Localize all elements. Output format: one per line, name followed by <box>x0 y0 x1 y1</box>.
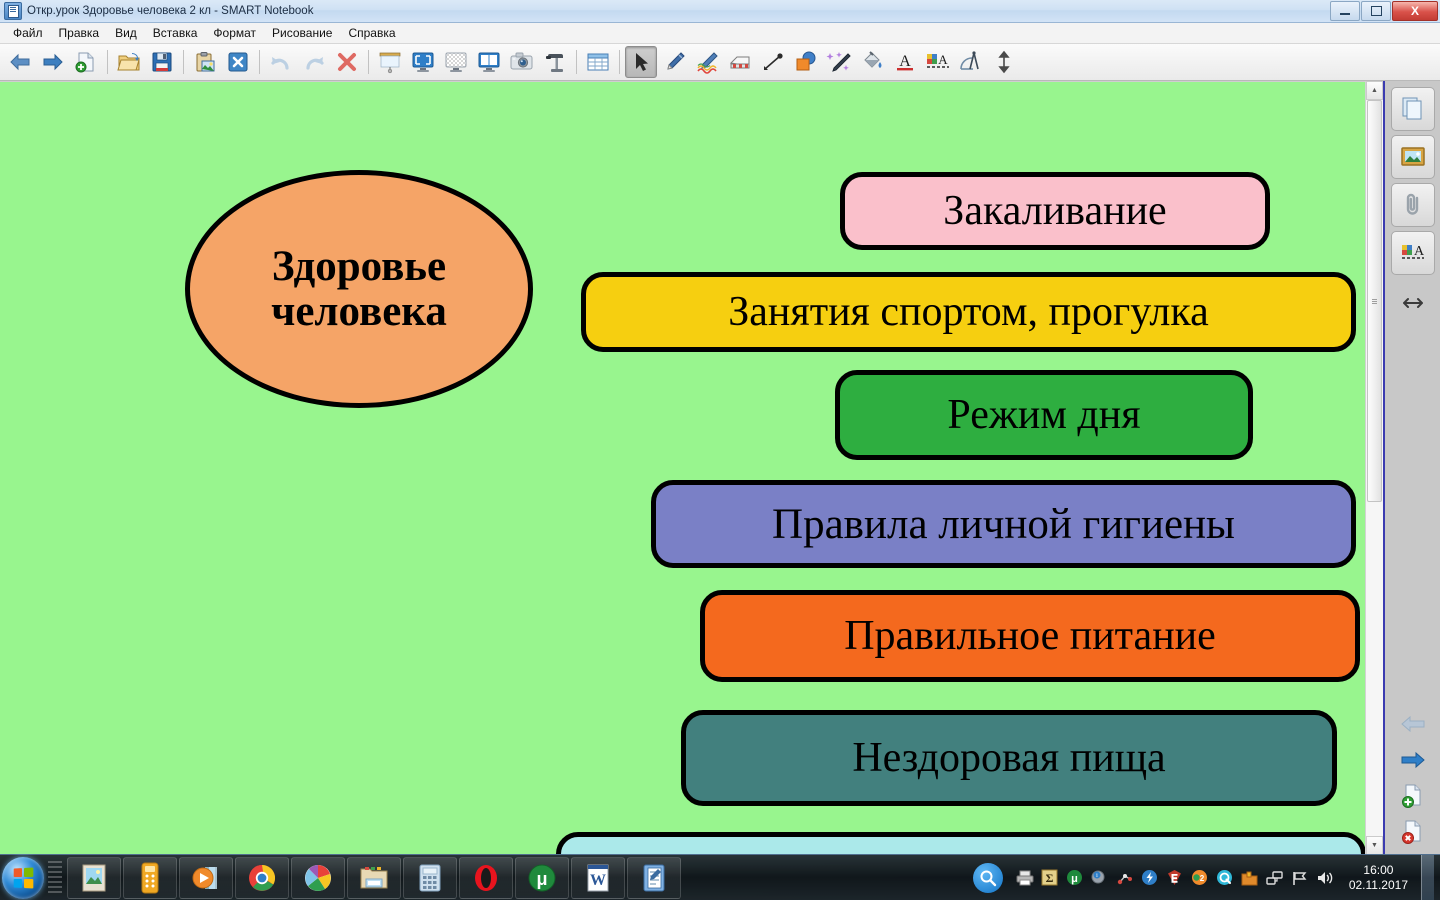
svg-text:μ: μ <box>1071 873 1078 885</box>
menu-help[interactable]: Справка <box>341 24 402 42</box>
node-sports[interactable]: Занятия спортом, прогулка <box>581 272 1356 352</box>
node-sports-label: Занятия спортом, прогулка <box>728 288 1209 336</box>
toolbar-separator <box>368 50 369 74</box>
svg-text:Σ: Σ <box>1046 871 1054 885</box>
notebook-icon <box>4 2 22 20</box>
next-page-button[interactable] <box>1396 745 1430 775</box>
eraser-icon[interactable] <box>724 46 756 78</box>
taskbar-orange-device[interactable] <box>123 857 177 899</box>
taskbar-picasa[interactable] <box>291 857 345 899</box>
sidebar-resize-handle[interactable] <box>1401 295 1425 311</box>
taskbar-utorrent[interactable]: μ <box>515 857 569 899</box>
close-button[interactable]: X <box>1392 1 1438 21</box>
windows-taskbar: μ W <box>0 854 1440 900</box>
node-central-health[interactable]: Здоровье человека <box>185 170 533 408</box>
undo-icon[interactable] <box>265 46 297 78</box>
node-hygiene-label: Правила личной гигиены <box>772 500 1235 549</box>
pen-icon[interactable] <box>658 46 690 78</box>
tray-update[interactable]: 2 <box>1191 869 1209 887</box>
save-icon[interactable] <box>146 46 178 78</box>
add-page-button[interactable] <box>1396 781 1430 811</box>
node-hygiene[interactable]: Правила личной гигиены <box>651 480 1356 568</box>
creative-pen-icon[interactable] <box>691 46 723 78</box>
tray-volume[interactable] <box>1316 869 1334 887</box>
svg-text:A: A <box>1413 244 1424 259</box>
measurement-icon[interactable] <box>955 46 987 78</box>
taskbar-drag-handle[interactable] <box>48 861 62 895</box>
svg-text:W: W <box>590 872 606 889</box>
node-hardening[interactable]: Закаливание <box>840 172 1270 250</box>
svg-text:A: A <box>938 52 948 67</box>
tray-molecule[interactable] <box>1116 869 1134 887</box>
windows-start-orb[interactable] <box>2 857 44 899</box>
node-nutrition[interactable]: Правильное питание <box>700 590 1360 682</box>
node-daily-routine-label: Режим дня <box>947 391 1140 439</box>
prev-page-button[interactable] <box>1396 709 1430 739</box>
main-area: Здоровье человека Закаливание Занятия сп… <box>0 81 1440 855</box>
close-red-x-icon[interactable] <box>331 46 363 78</box>
show-desktop-button[interactable] <box>1421 855 1434 900</box>
menu-bar: Файл Правка Вид Вставка Формат Рисование… <box>0 23 1440 44</box>
title-bar: Откр.урок Здоровье человека 2 кл - SMART… <box>0 0 1440 23</box>
redo-icon[interactable] <box>298 46 330 78</box>
tray-quicktime[interactable] <box>1216 869 1234 887</box>
node-full-sleep[interactable]: Полноценный сон <box>556 832 1365 855</box>
minimize-button[interactable] <box>1330 1 1360 21</box>
menu-view[interactable]: Вид <box>108 24 144 42</box>
toolbar-separator <box>619 50 620 74</box>
document-camera-icon[interactable] <box>539 46 571 78</box>
dual-page-icon[interactable] <box>473 46 505 78</box>
toolbar-separator <box>183 50 184 74</box>
paste-icon[interactable] <box>189 46 221 78</box>
node-nutrition-label: Правильное питание <box>844 612 1216 660</box>
menu-draw[interactable]: Рисование <box>265 24 339 42</box>
delete-icon[interactable] <box>222 46 254 78</box>
tray-utorrent[interactable]: μ <box>1066 869 1084 887</box>
menu-insert[interactable]: Вставка <box>146 24 205 42</box>
tray-network[interactable] <box>1266 869 1284 887</box>
screen-capture-icon[interactable] <box>506 46 538 78</box>
select-arrow-icon[interactable] <box>625 46 657 78</box>
tray-eset[interactable] <box>1166 869 1184 887</box>
fill-icon[interactable] <box>856 46 888 78</box>
attachments-tab[interactable] <box>1391 183 1435 227</box>
tray-flag[interactable] <box>1291 869 1309 887</box>
sidebar-page-controls <box>1396 709 1430 855</box>
window-title: Откр.урок Здоровье человека 2 кл - SMART… <box>27 5 313 17</box>
taskbar-word[interactable]: W <box>571 857 625 899</box>
shapes-icon[interactable] <box>790 46 822 78</box>
menu-format[interactable]: Формат <box>206 24 263 42</box>
maximize-button[interactable] <box>1361 1 1391 21</box>
svg-text:A: A <box>899 53 911 70</box>
magic-pen-icon[interactable] <box>823 46 855 78</box>
gallery-tab[interactable] <box>1391 135 1435 179</box>
taskbar-chrome[interactable] <box>235 857 289 899</box>
notebook-canvas[interactable]: Здоровье человека Закаливание Занятия сп… <box>0 81 1365 855</box>
tray-search[interactable] <box>973 863 1003 893</box>
clock-date: 02.11.2017 <box>1349 878 1408 893</box>
canvas-vertical-scrollbar[interactable]: ▲ ▼ <box>1365 81 1383 855</box>
svg-text:2: 2 <box>1200 874 1205 883</box>
taskbar-opera[interactable] <box>459 857 513 899</box>
tray-printer[interactable] <box>1016 869 1034 887</box>
text-icon[interactable]: A <box>889 46 921 78</box>
svg-text:μ: μ <box>536 869 547 889</box>
open-folder-icon[interactable] <box>113 46 145 78</box>
node-daily-routine[interactable]: Режим дня <box>835 370 1253 460</box>
node-unhealthy-food[interactable]: Нездоровая пища <box>681 710 1337 806</box>
move-toolbar-icon[interactable] <box>988 46 1020 78</box>
windows-flag-icon <box>14 867 34 888</box>
node-central-line2: человека <box>271 289 447 334</box>
smart-notebook-window: Откр.урок Здоровье человека 2 кл - SMART… <box>0 0 1440 855</box>
window-controls: X <box>1330 1 1438 21</box>
node-unhealthy-food-label: Нездоровая пища <box>852 734 1165 782</box>
forward-arrow-icon[interactable] <box>37 46 69 78</box>
scroll-up-button[interactable]: ▲ <box>1366 81 1383 100</box>
menu-file[interactable]: Файл <box>6 24 50 42</box>
tray-bolt[interactable] <box>1141 869 1159 887</box>
taskbar-media-player[interactable] <box>179 857 233 899</box>
properties-icon[interactable]: A <box>922 46 954 78</box>
toolbar-separator <box>107 50 108 74</box>
right-sidebar: A <box>1383 81 1440 855</box>
scroll-down-button[interactable]: ▼ <box>1366 836 1383 855</box>
line-icon[interactable] <box>757 46 789 78</box>
tray-archive[interactable] <box>1241 869 1259 887</box>
taskbar-explorer[interactable] <box>347 857 401 899</box>
taskbar-calculator[interactable] <box>403 857 457 899</box>
properties-tab[interactable]: A <box>1391 231 1435 275</box>
main-toolbar: A A <box>0 44 1440 81</box>
tray-math[interactable]: Σ <box>1041 869 1059 887</box>
screen-shade-icon[interactable] <box>374 46 406 78</box>
node-central-line1: Здоровье <box>271 244 447 289</box>
tray-info[interactable]: i <box>1091 869 1109 887</box>
delete-page-button[interactable] <box>1396 817 1430 847</box>
page-sorter-tab[interactable] <box>1391 87 1435 131</box>
back-arrow-icon[interactable] <box>4 46 36 78</box>
system-tray: Σ μ i <box>973 855 1440 900</box>
scroll-track[interactable] <box>1366 100 1383 836</box>
taskbar-photo-viewer[interactable] <box>67 857 121 899</box>
toolbar-separator <box>576 50 577 74</box>
scroll-thumb[interactable] <box>1367 100 1382 502</box>
node-hardening-label: Закаливание <box>943 187 1166 235</box>
taskbar-smart-notebook[interactable] <box>627 857 681 899</box>
transparent-background-icon[interactable] <box>440 46 472 78</box>
new-page-icon[interactable] <box>70 46 102 78</box>
full-screen-icon[interactable] <box>407 46 439 78</box>
menu-edit[interactable]: Правка <box>52 24 107 42</box>
clock-time: 16:00 <box>1349 863 1408 878</box>
toolbar-separator <box>259 50 260 74</box>
taskbar-clock[interactable]: 16:00 02.11.2017 <box>1349 863 1408 893</box>
table-icon[interactable] <box>582 46 614 78</box>
